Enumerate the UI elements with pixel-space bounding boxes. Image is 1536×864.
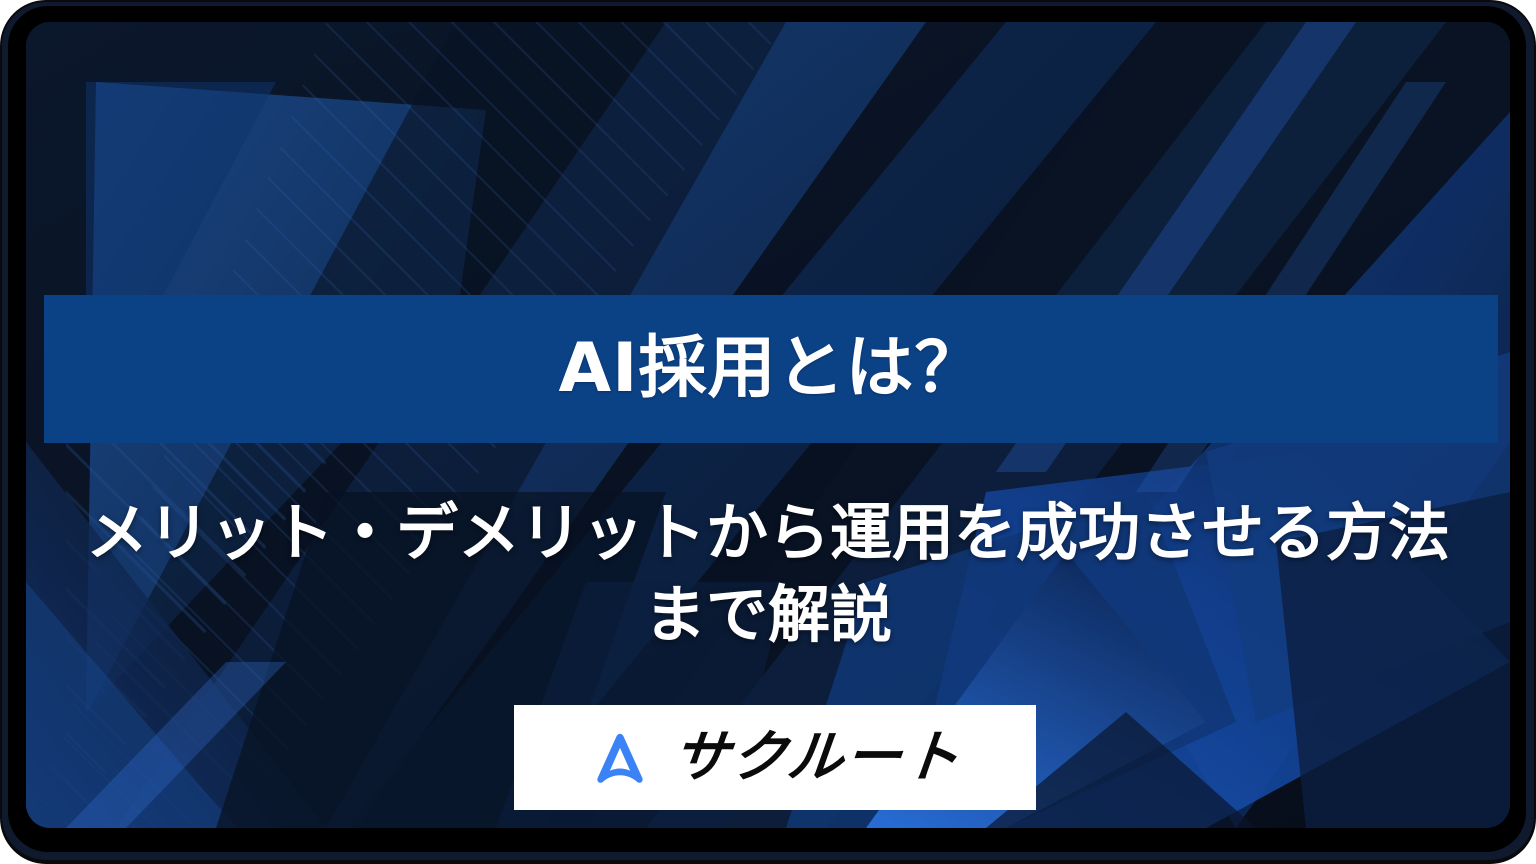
subtitle-line-2: まで解説 xyxy=(34,574,1502,656)
page-title: AI採用とは？ xyxy=(559,335,984,403)
thumbnail-root: AI採用とは？ メリット・デメリットから運用を成功させる方法 まで解説 サクルー… xyxy=(0,0,1536,864)
sakuroute-arrow-mark-icon xyxy=(589,727,651,789)
content-layer: AI採用とは？ メリット・デメリットから運用を成功させる方法 まで解説 サクルー… xyxy=(0,0,1536,864)
subtitle-line-1: メリット・デメリットから運用を成功させる方法 xyxy=(34,492,1502,574)
subtitle-block: メリット・デメリットから運用を成功させる方法 まで解説 xyxy=(34,492,1502,656)
logo-plate: サクルート xyxy=(514,705,1036,810)
logo-wordmark: サクルート xyxy=(670,730,964,786)
title-band: AI採用とは？ xyxy=(44,295,1498,443)
